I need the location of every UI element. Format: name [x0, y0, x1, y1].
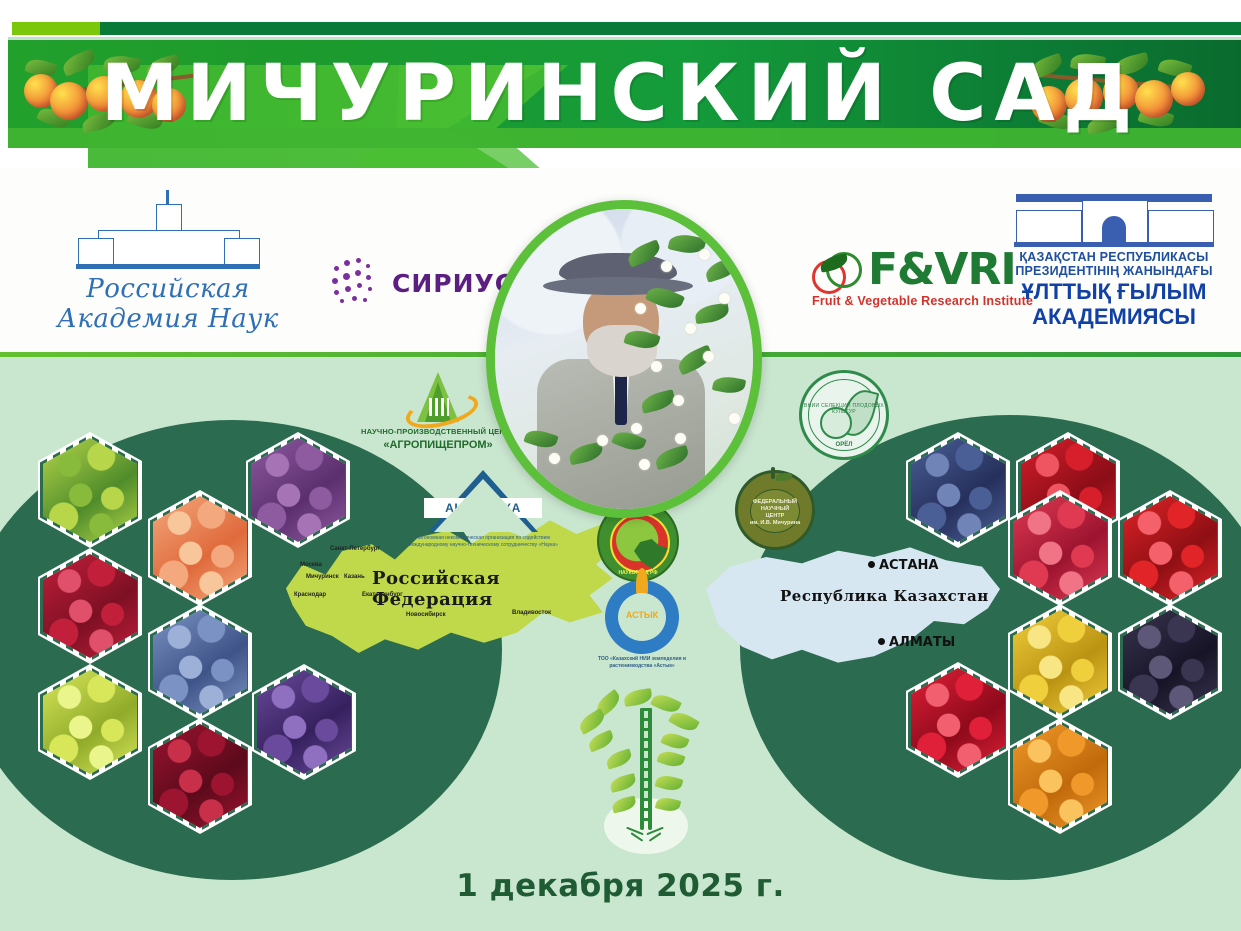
kazakh-academy-building-icon: [1016, 192, 1212, 246]
russia-city-label: Москва: [300, 562, 322, 568]
agro-triangle-icon: [403, 372, 473, 424]
fnc-line-4: им. И.В. Мичурина: [738, 520, 812, 527]
logo-russian-academy-of-sciences[interactable]: Российская Академия Наук: [18, 200, 318, 334]
astyk-gear-wheat-icon: АСТЫК: [605, 580, 679, 654]
vniispk-city: ОРЁЛ: [802, 442, 886, 448]
astyk-subtitle: ТОО «Казахский НИИ земледелия и растение…: [592, 656, 692, 670]
city-dot-icon: [868, 561, 875, 568]
almaty-label: АЛМАТЫ: [889, 635, 955, 650]
page-title: МИЧУРИНСКИЙ САД: [0, 44, 1241, 144]
ras-label: Российская Академия Наук: [18, 274, 318, 334]
vniispk-label: ВНИИ СЕЛЕКЦИИ ПЛОДОВЫХ КУЛЬТУР: [802, 403, 886, 415]
russia-city-label: Краснодар: [294, 592, 326, 598]
kazakhstan-city-astana: АСТАНА: [868, 558, 938, 573]
kazakh-line-4: АКАДЕМИЯСЫ: [1000, 304, 1228, 329]
kazakh-line-1: ҚАЗАҚСТАН РЕСПУБЛИКАСЫ: [1000, 250, 1228, 264]
logo-kazakh-national-academy[interactable]: ҚАЗАҚСТАН РЕСПУБЛИКАСЫ ПРЕЗИДЕНТІНІҢ ЖАН…: [1000, 192, 1228, 329]
kazakh-line-3: ҰЛТТЫҚ ҒЫЛЫМ: [1000, 279, 1228, 304]
event-date: 1 декабря 2025 г.: [0, 868, 1241, 904]
academy-building-icon: [78, 200, 258, 272]
city-dot-icon: [878, 638, 885, 645]
kazakhstan-label: Республика Казахстан: [780, 587, 989, 605]
fvri-label: F&VRI: [868, 248, 1016, 292]
russia-city-label: Владивосток: [512, 610, 551, 616]
root-icon: [626, 826, 666, 844]
russia-city-label: Новосибирск: [406, 612, 446, 618]
russia-city-label: Мичуринск: [306, 574, 339, 580]
banner-top-strip-accent: [12, 22, 100, 35]
fnc-line-3: ЦЕНТР: [738, 513, 812, 520]
blossom-branch-lower-icon: [515, 395, 715, 515]
dna-tree-icon: [566, 690, 726, 855]
astana-label: АСТАНА: [879, 558, 938, 573]
apple-leaf-circle-icon: ВНИИ СЕЛЕКЦИИ ПЛОДОВЫХ КУЛЬТУР ОРЁЛ: [799, 370, 889, 460]
fvri-rings-icon: [812, 248, 862, 292]
poster-root: МИЧУРИНСКИЙ САД Российская Академия Наук: [0, 0, 1241, 931]
astyk-label: АСТЫК: [605, 610, 679, 620]
banner-top-strip: [12, 22, 1241, 35]
logo-vniispk[interactable]: ВНИИ СЕЛЕКЦИИ ПЛОДОВЫХ КУЛЬТУР ОРЁЛ: [795, 370, 893, 460]
russia-city-label: Екатеринбург: [362, 592, 403, 598]
logo-sirius[interactable]: СИРИУС: [330, 256, 514, 310]
logo-astyk[interactable]: АСТЫК ТОО «Казахский НИИ земледелия и ра…: [592, 580, 692, 670]
kazakh-line-2: ПРЕЗИДЕНТІНІҢ ЖАНЫНДАҒЫ: [1000, 264, 1228, 278]
ano-subtitle: Автономная некоммерческая организация по…: [408, 535, 558, 549]
russia-city-label: Санкт-Петербург: [330, 546, 380, 552]
russia-label: Российская Федерация: [372, 568, 616, 610]
russia-city-label: Казань: [344, 574, 365, 580]
sirius-dots-icon: [330, 256, 384, 310]
kazakhstan-city-almaty: АЛМАТЫ: [878, 635, 955, 650]
header-banner: МИЧУРИНСКИЙ САД: [0, 0, 1241, 168]
portrait-michurin: [486, 200, 762, 518]
